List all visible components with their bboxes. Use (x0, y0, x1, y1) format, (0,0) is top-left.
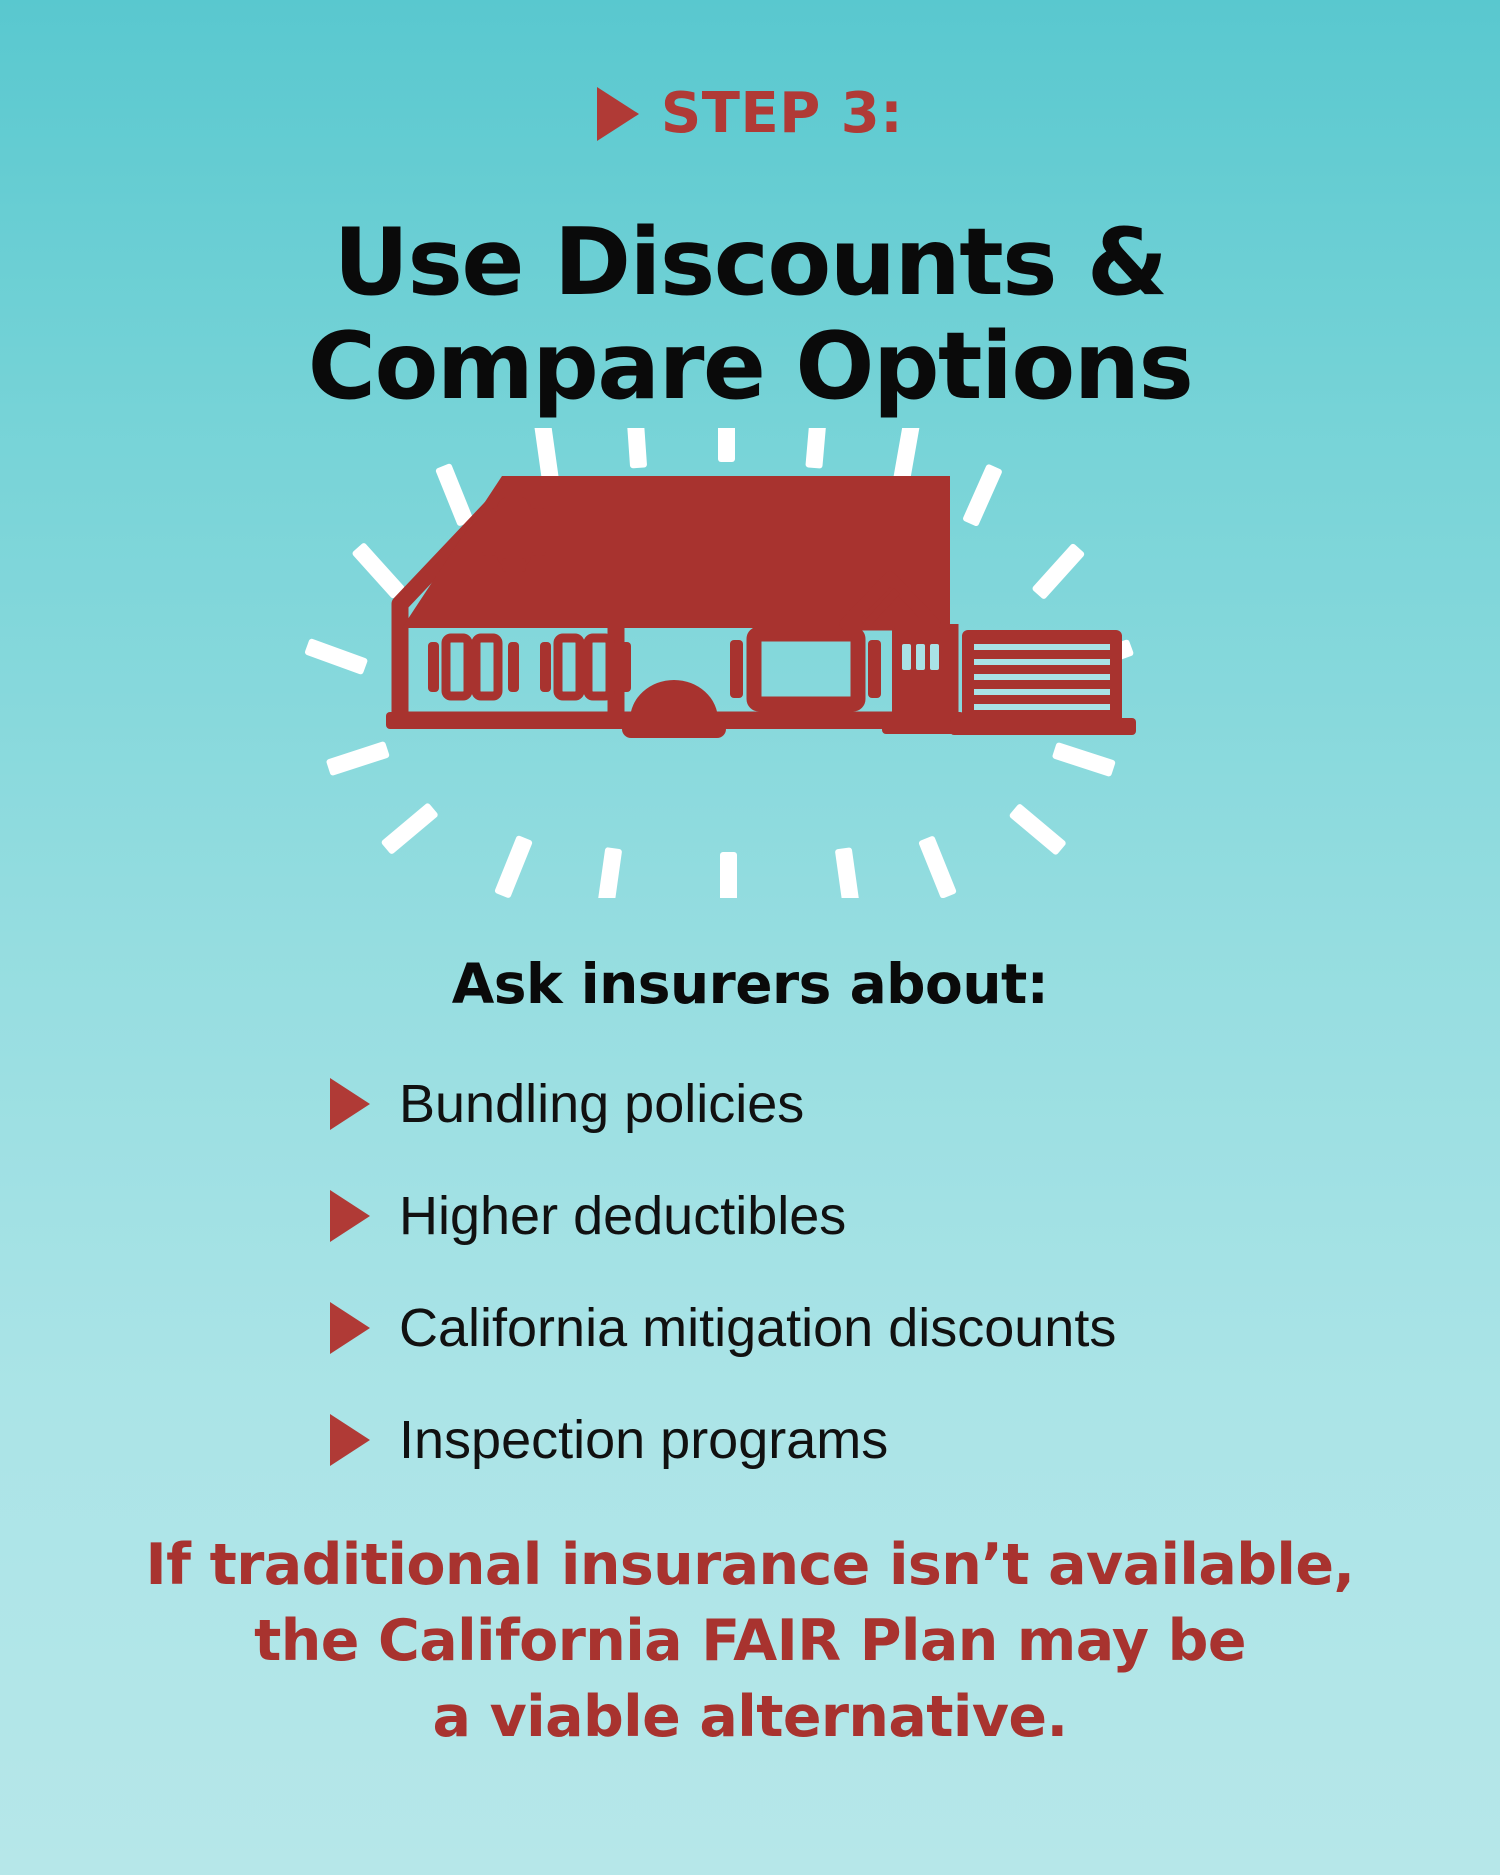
triangle-right-icon (330, 1190, 370, 1242)
bush-icon (622, 680, 726, 738)
house-illustration (250, 428, 1250, 898)
closing-line-2: the California FAIR Plan may be (0, 1604, 1500, 1680)
step-label: STEP 3: (661, 86, 903, 142)
house-body-icon (386, 476, 1136, 738)
discount-list: Bundling policies Higher deductibles Cal… (330, 1048, 1430, 1496)
list-item-label: Inspection programs (399, 1413, 888, 1467)
triangle-right-icon (597, 87, 639, 141)
list-item: California mitigation discounts (330, 1272, 1430, 1384)
triangle-right-icon (330, 1414, 370, 1466)
page-title-line-1: Use Discounts & (0, 210, 1500, 314)
window-left-1-icon (428, 638, 519, 696)
infographic-poster: STEP 3: Use Discounts & Compare Options (0, 0, 1500, 1875)
closing-statement: If traditional insurance isn’t available… (0, 1528, 1500, 1755)
closing-line-1: If traditional insurance isn’t available… (0, 1528, 1500, 1604)
list-item-label: California mitigation discounts (399, 1301, 1116, 1355)
page-title-line-2: Compare Options (0, 314, 1500, 418)
list-heading: Ask insurers about: (0, 952, 1500, 1016)
triangle-right-icon (330, 1078, 370, 1130)
page-title: Use Discounts & Compare Options (0, 210, 1500, 418)
front-door-icon (882, 628, 960, 734)
list-item: Higher deductibles (330, 1160, 1430, 1272)
list-item-label: Bundling policies (399, 1077, 804, 1131)
list-item-label: Higher deductibles (399, 1189, 846, 1243)
triangle-right-icon (330, 1302, 370, 1354)
closing-line-3: a viable alternative. (0, 1680, 1500, 1756)
picture-window-icon (730, 634, 881, 704)
list-item: Bundling policies (330, 1048, 1430, 1160)
list-item: Inspection programs (330, 1384, 1430, 1496)
garage-door-icon (950, 630, 1136, 735)
step-eyebrow: STEP 3: (0, 86, 1500, 142)
